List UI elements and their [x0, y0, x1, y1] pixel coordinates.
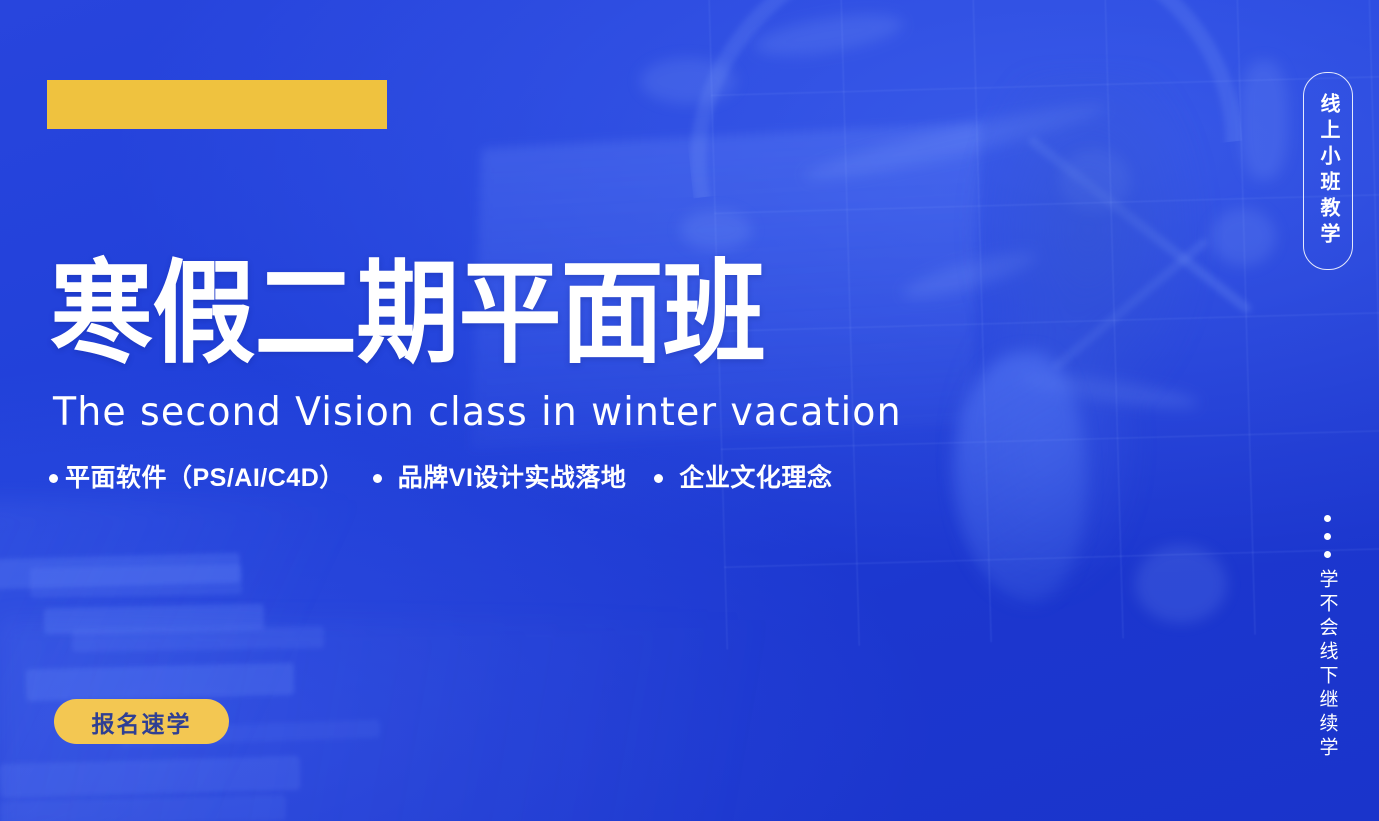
guarantee-note: 学不会线下继续学 [1303, 515, 1351, 761]
feature-item-software: 平面软件（PS/AI/C4D） [49, 466, 345, 491]
poster-canvas: 寒假二期平面班 The second Vision class in winte… [0, 0, 1379, 821]
page-title: 寒假二期平面班 [50, 258, 765, 370]
bullet-dot-icon [49, 474, 58, 483]
feature-item-label: 品牌VI设计实战落地 [398, 466, 627, 491]
accent-bar [47, 80, 387, 129]
online-small-class-badge-label: 线上小班教学 [1318, 93, 1338, 249]
bullet-dot-icon [654, 474, 663, 483]
bullet-dot-icon [373, 474, 382, 483]
guarantee-note-label: 学不会线下继续学 [1318, 569, 1337, 761]
poster-content: 寒假二期平面班 The second Vision class in winte… [0, 0, 1379, 821]
enroll-button[interactable]: 报名速学 [54, 699, 229, 744]
three-dots-icon [1324, 515, 1331, 558]
page-subtitle: The second Vision class in winter vacati… [53, 393, 902, 432]
feature-item-label: 平面软件（PS/AI/C4D） [65, 466, 345, 491]
feature-item-culture: 企业文化理念 [654, 466, 832, 491]
online-small-class-badge: 线上小班教学 [1303, 72, 1353, 270]
feature-item-label: 企业文化理念 [679, 466, 832, 491]
feature-list: 平面软件（PS/AI/C4D） 品牌VI设计实战落地 企业文化理念 [49, 466, 832, 491]
feature-item-brand-vi: 品牌VI设计实战落地 [373, 466, 627, 491]
